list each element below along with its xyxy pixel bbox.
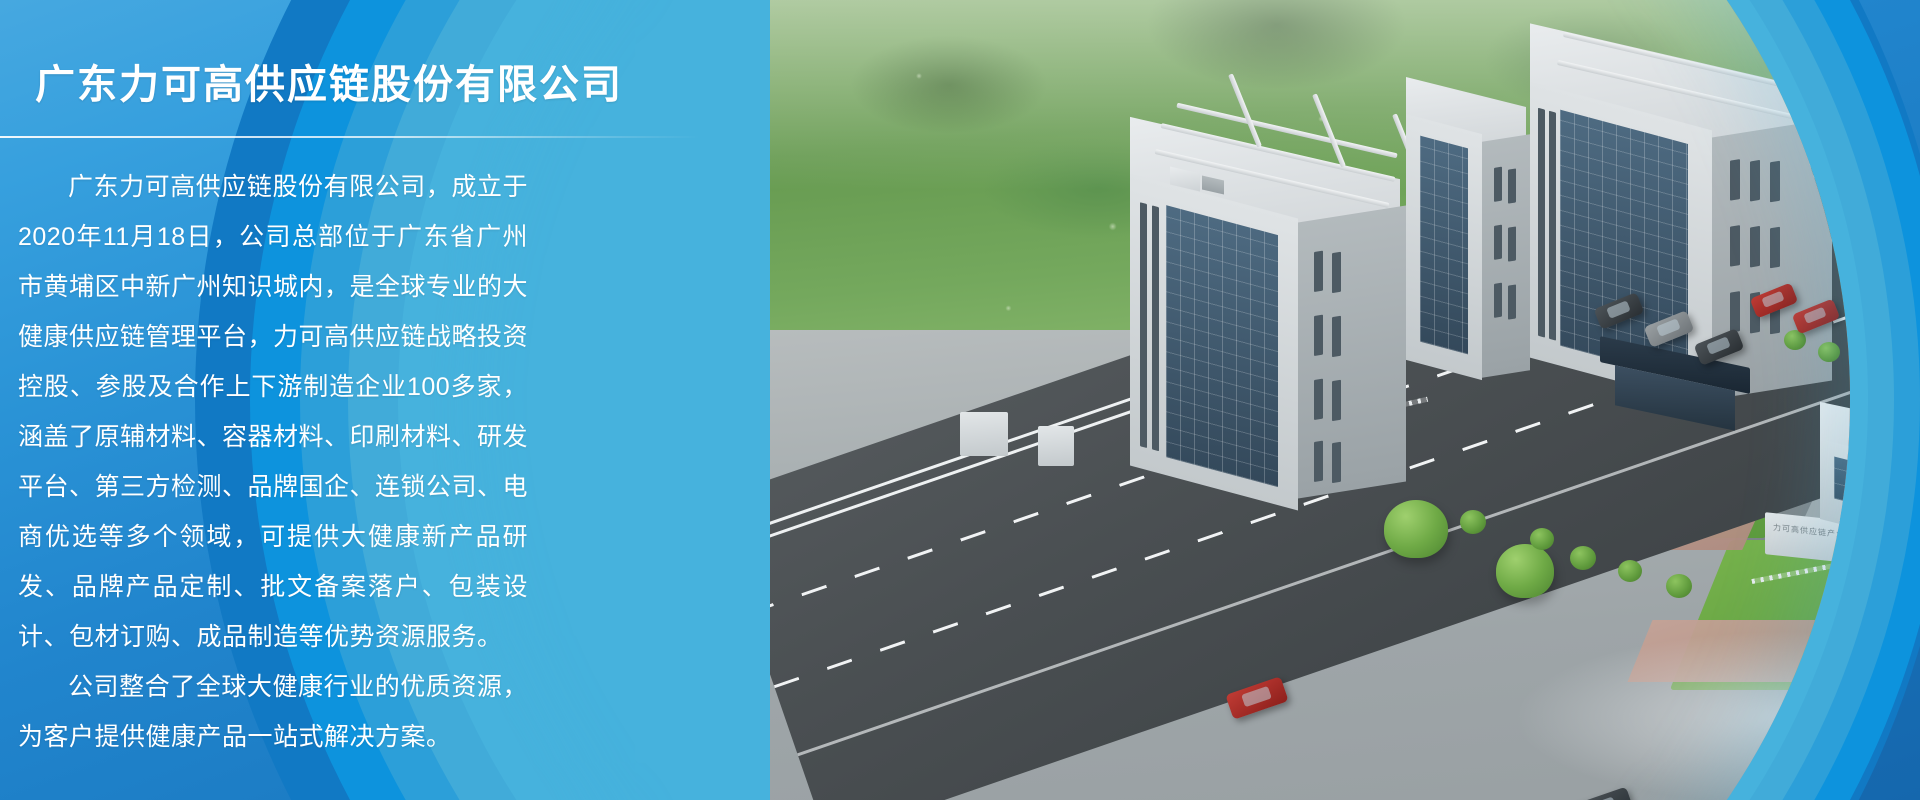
campus-photo: 力可高供应链产业园 bbox=[770, 0, 1850, 800]
text-panel: 广东力可高供应链股份有限公司 广东力可高供应链股份有限公司，成立于2020年11… bbox=[0, 0, 700, 800]
building-mid-front bbox=[1406, 114, 1482, 380]
page-title: 广东力可高供应链股份有限公司 bbox=[35, 52, 623, 110]
shrub bbox=[1530, 528, 1554, 550]
building-right-side bbox=[1712, 118, 1832, 399]
company-profile-banner: 力可高供应链产业园 bbox=[0, 0, 1920, 800]
shrub bbox=[1570, 546, 1596, 570]
tower-curtain-wall bbox=[1166, 205, 1278, 487]
building-tower-side bbox=[1298, 205, 1406, 498]
ground-haze bbox=[1470, 580, 1850, 800]
shrub bbox=[1618, 560, 1642, 582]
title-divider bbox=[0, 136, 700, 138]
campus-scene: 力可高供应链产业园 bbox=[770, 0, 1850, 800]
gate-pillar bbox=[960, 412, 1008, 456]
shrub bbox=[1460, 510, 1486, 534]
company-description: 广东力可高供应链股份有限公司，成立于2020年11月18日，公司总部位于广东省广… bbox=[18, 162, 528, 762]
gate-pillar bbox=[1038, 426, 1074, 466]
building-tower-front bbox=[1130, 173, 1298, 510]
signwall-label: 力可高供应链产业园 bbox=[1773, 522, 1850, 542]
paragraph-1: 广东力可高供应链股份有限公司，成立于2020年11月18日，公司总部位于广东省广… bbox=[18, 162, 528, 662]
paragraph-2: 公司整合了全球大健康行业的优质资源，为客户提供健康产品一站式解决方案。 bbox=[18, 662, 528, 762]
shrub bbox=[1818, 342, 1840, 362]
building-mid-side bbox=[1482, 134, 1530, 378]
tree bbox=[1384, 500, 1448, 558]
